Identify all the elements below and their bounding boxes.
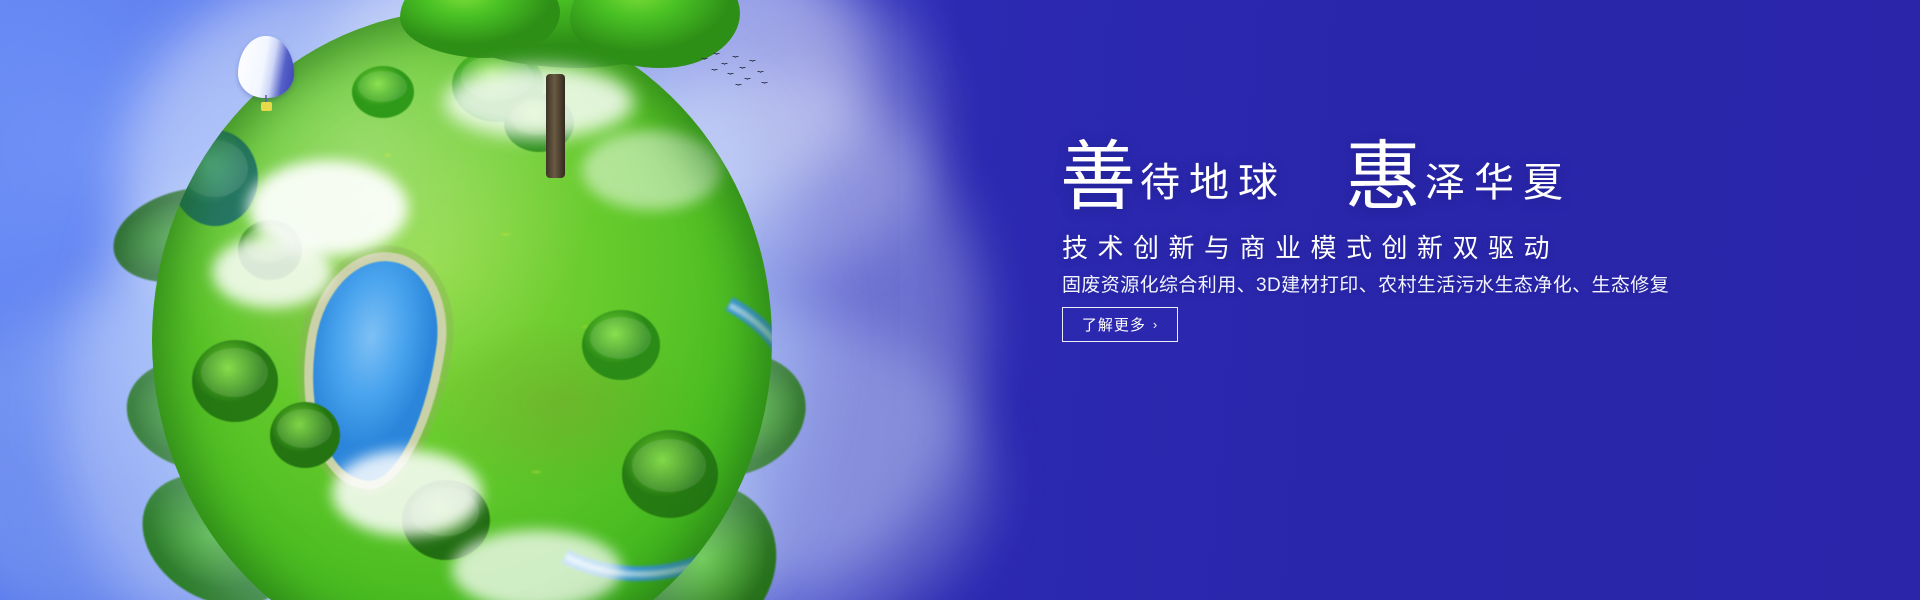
bird-flock bbox=[700, 52, 780, 92]
hero-subtitle: 技术创新与商业模式创新双驱动 bbox=[1062, 228, 1559, 265]
bird-icon bbox=[740, 67, 746, 70]
balloon-envelope bbox=[238, 36, 294, 98]
bird-icon bbox=[714, 53, 720, 56]
tree-trunk bbox=[546, 74, 565, 178]
hot-air-balloon bbox=[238, 36, 294, 112]
bird-icon bbox=[758, 71, 764, 74]
chevron-right-icon: › bbox=[1153, 318, 1158, 331]
learn-more-label: 了解更多 bbox=[1082, 314, 1146, 335]
hero-copy-block: 善 待地球 惠 泽华夏 技术创新与商业模式创新双驱动 固废资源化综合利用、3D建… bbox=[1060, 0, 1760, 600]
balloon-basket bbox=[261, 102, 272, 111]
tree-mist bbox=[444, 66, 634, 138]
learn-more-button[interactable]: 了解更多 › bbox=[1062, 307, 1178, 342]
large-tree bbox=[400, 0, 730, 178]
hero-headline: 善 待地球 惠 泽华夏 bbox=[1060, 142, 1572, 212]
bird-icon bbox=[733, 56, 739, 59]
bird-icon bbox=[750, 60, 756, 63]
bird-icon bbox=[722, 63, 728, 66]
headline-primary-small: 待地球 bbox=[1140, 163, 1287, 212]
headline-primary-large: 善 bbox=[1060, 142, 1136, 212]
hero-description: 固废资源化综合利用、3D建材打印、农村生活污水生态净化、生态修复 bbox=[1062, 270, 1669, 297]
bird-icon bbox=[745, 78, 751, 81]
bird-icon bbox=[702, 58, 708, 61]
headline-secondary-small: 泽华夏 bbox=[1425, 163, 1572, 212]
headline-secondary-large: 惠 bbox=[1345, 142, 1421, 212]
bird-icon bbox=[762, 82, 768, 85]
bird-icon bbox=[736, 84, 742, 87]
bird-icon bbox=[712, 69, 718, 72]
hero-banner: 善 待地球 惠 泽华夏 技术创新与商业模式创新双驱动 固废资源化综合利用、3D建… bbox=[0, 0, 1920, 600]
bird-icon bbox=[728, 73, 734, 76]
